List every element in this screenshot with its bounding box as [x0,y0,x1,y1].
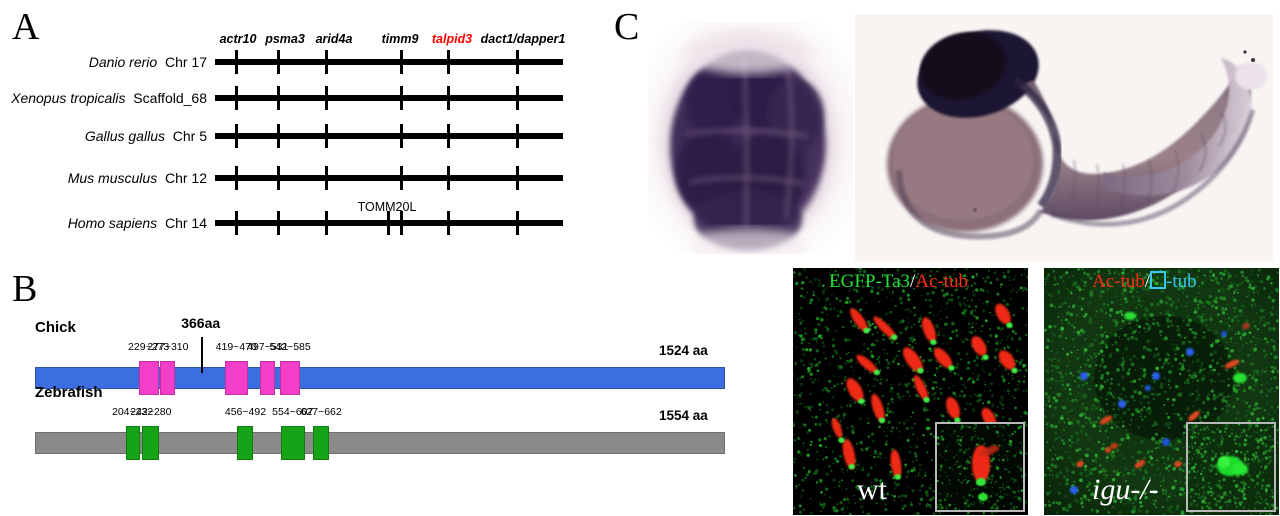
gene-label-talpid3: talpid3 [432,32,472,46]
protein-domain-box [225,361,248,395]
gene-tick [325,50,328,74]
chromosome-line [215,175,563,181]
chromosome-line [215,59,563,65]
gene-tick [516,124,519,148]
species-binomial: Xenopus tropicalis [11,90,125,106]
protein-domain-box [139,361,159,395]
chromosome-label: Chr 14 [165,215,207,231]
panel-c-micrograph [648,22,853,254]
protein-domain-label: 542~585 [270,341,311,353]
gene-tick [277,211,280,235]
panel-f-channel-title: Ac-tub/-tub [1092,271,1197,293]
protein-domain-box [313,426,329,460]
chromosome-label: Scaffold_68 [133,90,207,106]
gene-tick [325,124,328,148]
species-binomial: Danio rerio [89,54,157,70]
gene-label-arid4a: arid4a [316,32,353,46]
gene-tick [447,86,450,110]
gene-tick [277,50,280,74]
protein-domain-box [142,426,159,460]
panel-f: F Ac-tub/-tub [1044,268,1279,515]
species-name-label: Xenopus tropicalis Scaffold_68 [11,90,207,106]
gene-tick [516,211,519,235]
gene-tick [277,124,280,148]
panel-a-letter: A [12,8,39,46]
protein-track-name: Chick [35,319,76,336]
gene-tick [400,211,403,235]
chromosome-line [215,133,563,139]
panel-e: E EGFP-Ta3/Ac-tub wt [793,268,1028,515]
chromosome-label: Chr 12 [165,170,207,186]
protein-total-length-label: 1554 aa [659,408,708,423]
panel-e-channel-title: EGFP-Ta3/Ac-tub [829,271,968,293]
panel-c: C [600,0,870,265]
protein-domain-box [281,426,305,460]
gene-tick [447,124,450,148]
species-name-label: Mus musculus Chr 12 [68,170,207,186]
gene-tick [235,86,238,110]
species-row: Homo sapiens Chr 14 [0,210,600,236]
panel-f-channel-part-0: Ac-tub [1092,271,1145,292]
gene-tick [325,166,328,190]
tomm20l-label: TOMM20L [358,200,417,214]
species-binomial: Homo sapiens [68,215,158,231]
panel-e-channel-part-0: EGFP-Ta3 [829,271,910,292]
panel-e-inset [935,422,1025,512]
protein-domain-box [237,426,253,460]
aa-position-marker-line [201,337,203,373]
species-binomial: Mus musculus [68,170,157,186]
gene-label-timm9: timm9 [382,32,419,46]
panel-c-letter: C [614,8,639,46]
protein-domain-label: 456~492 [225,406,266,418]
protein-track-name: Zebrafish [35,384,103,401]
species-binomial: Gallus gallus [85,128,165,144]
gene-tick [516,50,519,74]
gene-tick [235,211,238,235]
protein-domain-label: 277~310 [147,341,188,353]
gene-tick [235,50,238,74]
gene-tick [400,124,403,148]
protein-domain-box [160,361,175,395]
gene-tick [516,86,519,110]
gene-tick [277,166,280,190]
protein-domain-box [260,361,275,395]
gene-label-actr10: actr10 [220,32,257,46]
chromosome-line [215,95,563,101]
species-row: Xenopus tropicalis Scaffold_68 [0,85,600,111]
gene-label-psma3: psma3 [265,32,305,46]
protein-domain-label: 627~662 [301,406,342,418]
aa-position-marker-label: 366aa [181,315,220,331]
species-row: Gallus gallus Chr 5 [0,123,600,149]
panel-d: D [845,0,1280,265]
protein-total-length-label: 1524 aa [659,343,708,358]
figure-root: A actr10psma3arid4atimm9talpid3dact1/dap… [0,0,1280,516]
panel-e-genotype: wt [857,473,887,507]
gene-tick [447,50,450,74]
gene-tick [277,86,280,110]
panel-b-letter: B [12,270,37,308]
gene-tick [516,166,519,190]
panel-f-inset [1186,422,1276,512]
species-name-label: Gallus gallus Chr 5 [85,128,207,144]
gene-tick [400,86,403,110]
gene-label-dact1-dapper1: dact1/dapper1 [481,32,566,46]
panel-a: A actr10psma3arid4atimm9talpid3dact1/dap… [0,0,600,260]
gene-tick [235,124,238,148]
gene-tick [400,50,403,74]
protein-domain-label: 242~280 [130,406,171,418]
chromosome-label: Chr 17 [165,54,207,70]
panel-f-genotype: igu-/- [1092,473,1159,507]
species-row: Mus musculus Chr 12 [0,165,600,191]
gene-tick [447,211,450,235]
protein-domain-box [280,361,299,395]
species-row: Danio rerio Chr 17 [0,49,600,75]
gene-tick [400,166,403,190]
chromosome-label: Chr 5 [173,128,207,144]
panel-d-micrograph [855,14,1273,261]
species-name-label: Danio rerio Chr 17 [89,54,207,70]
gene-tick [387,211,390,235]
species-name-label: Homo sapiens Chr 14 [68,215,207,231]
protein-domain-box [126,426,140,460]
panel-b: B Chick229~273277~310419~470497~531542~5… [0,262,760,516]
gene-tick [325,211,328,235]
gene-tick [325,86,328,110]
panel-f-channel-part-3: -tub [1166,271,1197,292]
panel-e-channel-part-2: Ac-tub [915,271,968,292]
gene-tick [235,166,238,190]
gene-tick [447,166,450,190]
missing-glyph-icon [1150,271,1166,289]
